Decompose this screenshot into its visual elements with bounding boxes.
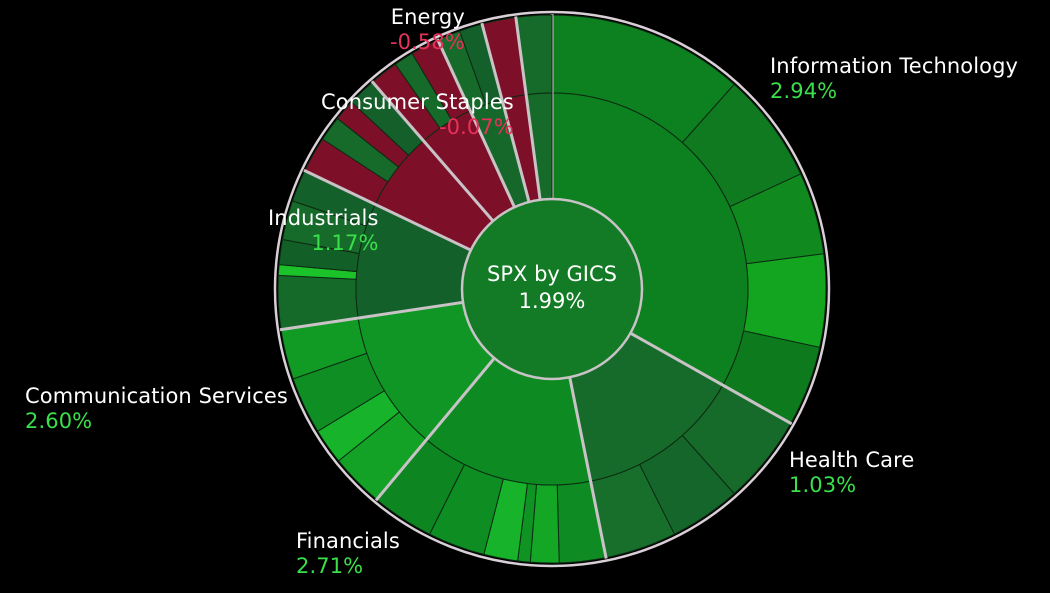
callout-label-financials: Financials [296, 529, 400, 554]
callout-label-industrials: Industrials [268, 206, 379, 231]
callout-information-technology[interactable]: Information Technology2.94% [770, 54, 1018, 104]
callout-communication-services[interactable]: Communication Services2.60% [25, 384, 288, 434]
callout-industrials[interactable]: Industrials1.17% [268, 206, 379, 256]
callout-value-consumer-staples: -0.07% [321, 115, 514, 140]
callout-value-energy: -0.58% [390, 30, 465, 55]
callout-value-industrials: 1.17% [268, 231, 379, 256]
center-label: SPX by GICS 1.99% [462, 261, 642, 315]
callout-label-energy: Energy [390, 5, 465, 30]
center-value: 1.99% [462, 288, 642, 315]
callout-energy[interactable]: Energy-0.58% [390, 5, 465, 55]
callout-value-health-care: 1.03% [789, 473, 914, 498]
callout-value-communication-services: 2.60% [25, 409, 288, 434]
callout-value-information-technology: 2.94% [770, 79, 1018, 104]
callout-label-consumer-staples: Consumer Staples [321, 90, 514, 115]
callout-financials[interactable]: Financials2.71% [296, 529, 400, 579]
callout-label-health-care: Health Care [789, 448, 914, 473]
callout-health-care[interactable]: Health Care1.03% [789, 448, 914, 498]
callout-consumer-staples[interactable]: Consumer Staples-0.07% [321, 90, 514, 140]
callout-value-financials: 2.71% [296, 554, 400, 579]
callout-label-communication-services: Communication Services [25, 384, 288, 409]
center-title: SPX by GICS [462, 261, 642, 288]
callout-label-information-technology: Information Technology [770, 54, 1018, 79]
chart-stage: SPX by GICS 1.99% Information Technology… [0, 0, 1050, 593]
